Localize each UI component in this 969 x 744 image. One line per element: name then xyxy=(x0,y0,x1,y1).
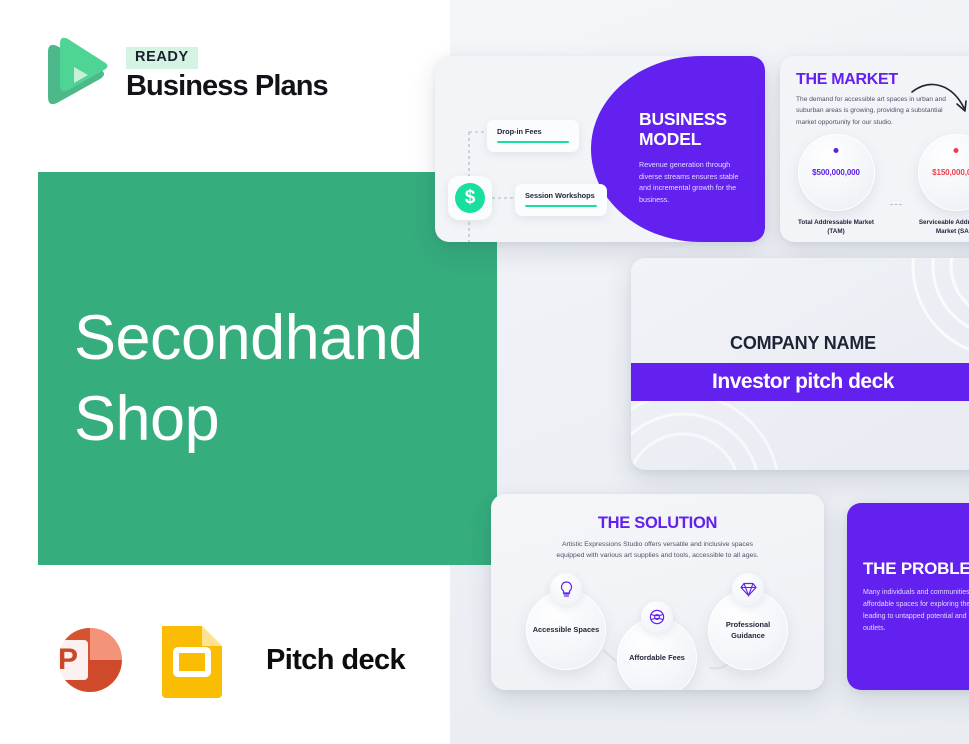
revenue-item-bar xyxy=(525,205,597,207)
slide-company-name[interactable]: COMPANY NAME Investor pitch deck xyxy=(631,258,969,470)
metric-disc: $150,000,000 xyxy=(918,134,969,211)
metric-caption: Total Addressable Market (TAM) xyxy=(792,218,880,236)
curved-arrow-icon xyxy=(910,76,969,122)
svg-text:P: P xyxy=(58,643,78,676)
market-metric-tam[interactable]: $500,000,000 Total Addressable Market (T… xyxy=(792,134,880,236)
slide-solution[interactable]: THE SOLUTION Artistic Expressions Studio… xyxy=(491,494,824,690)
brand-logo[interactable]: READY Business Plans xyxy=(38,36,328,114)
solution-node-accessible-spaces[interactable]: Accessible Spaces xyxy=(526,590,606,670)
diamond-icon xyxy=(732,573,764,605)
metric-value: $150,000,000 xyxy=(932,168,969,177)
solution-nodes: Accessible Spaces Affordable Fees xyxy=(491,576,824,686)
revenue-item-label: Drop-in Fees xyxy=(497,127,569,136)
market-metric-sam[interactable]: $150,000,000 Serviceable Addressable Mar… xyxy=(912,134,969,236)
solution-node-professional-guidance[interactable]: Professional Guidance xyxy=(708,590,788,670)
slide-title: THE SOLUTION xyxy=(491,514,824,533)
slide-problem[interactable]: THE PROBLEM Many individuals and communi… xyxy=(847,503,969,690)
solution-node-affordable-fees[interactable]: Affordable Fees xyxy=(617,618,697,690)
poster-canvas: READY Business Plans Secondhand Shop P xyxy=(0,0,969,744)
metric-dot xyxy=(954,148,959,153)
lightbulb-icon xyxy=(550,573,582,605)
format-label: Pitch deck xyxy=(266,644,405,677)
page-title: Secondhand Shop xyxy=(74,298,474,459)
slide-description: Revenue generation through diverse strea… xyxy=(639,159,751,206)
metric-caption: Serviceable Addressable Market (SAM) xyxy=(912,218,969,236)
revenue-item-bar xyxy=(497,141,569,143)
node-label: Affordable Fees xyxy=(629,652,685,663)
market-metrics: $500,000,000 Total Addressable Market (T… xyxy=(792,134,969,236)
revenue-item-session-workshops[interactable]: Session Workshops xyxy=(515,184,607,216)
pitch-deck-subtitle: Investor pitch deck xyxy=(712,370,894,394)
play-triangle-logo-icon xyxy=(38,36,110,114)
slide-description: Artistic Expressions Studio offers versa… xyxy=(555,539,761,562)
slide-business-model[interactable]: BUSINESS MODEL Revenue generation throug… xyxy=(435,56,765,242)
metric-value: $500,000,000 xyxy=(812,168,860,177)
node-label: Accessible Spaces xyxy=(533,624,600,635)
google-slides-icon[interactable] xyxy=(148,616,236,704)
revenue-item-drop-in-fees[interactable]: Drop-in Fees xyxy=(487,120,579,152)
slide-title: THE PROBLEM xyxy=(863,559,969,579)
node-label: Professional Guidance xyxy=(708,619,788,641)
slide-title: BUSINESS MODEL xyxy=(639,109,765,150)
metric-dot xyxy=(834,148,839,153)
dollar-icon-tile: $ xyxy=(448,176,492,220)
metric-connector xyxy=(890,204,902,205)
company-name: COMPANY NAME xyxy=(631,333,969,354)
ready-badge: READY xyxy=(126,47,198,69)
dollar-icon: $ xyxy=(455,183,485,213)
pitch-deck-band: Investor pitch deck xyxy=(631,363,969,401)
powerpoint-icon[interactable]: P xyxy=(40,616,128,704)
metric-disc: $500,000,000 xyxy=(798,134,875,211)
slide-title: THE MARKET xyxy=(796,71,898,89)
slide-market[interactable]: THE MARKET The demand for accessible art… xyxy=(780,56,969,242)
format-row: P Pitch deck xyxy=(40,616,405,704)
slide-description: Many individuals and communities lack ac… xyxy=(863,587,969,635)
revenue-item-label: Session Workshops xyxy=(525,191,597,200)
globe-target-icon xyxy=(641,601,673,633)
brand-name: Business Plans xyxy=(126,71,328,103)
